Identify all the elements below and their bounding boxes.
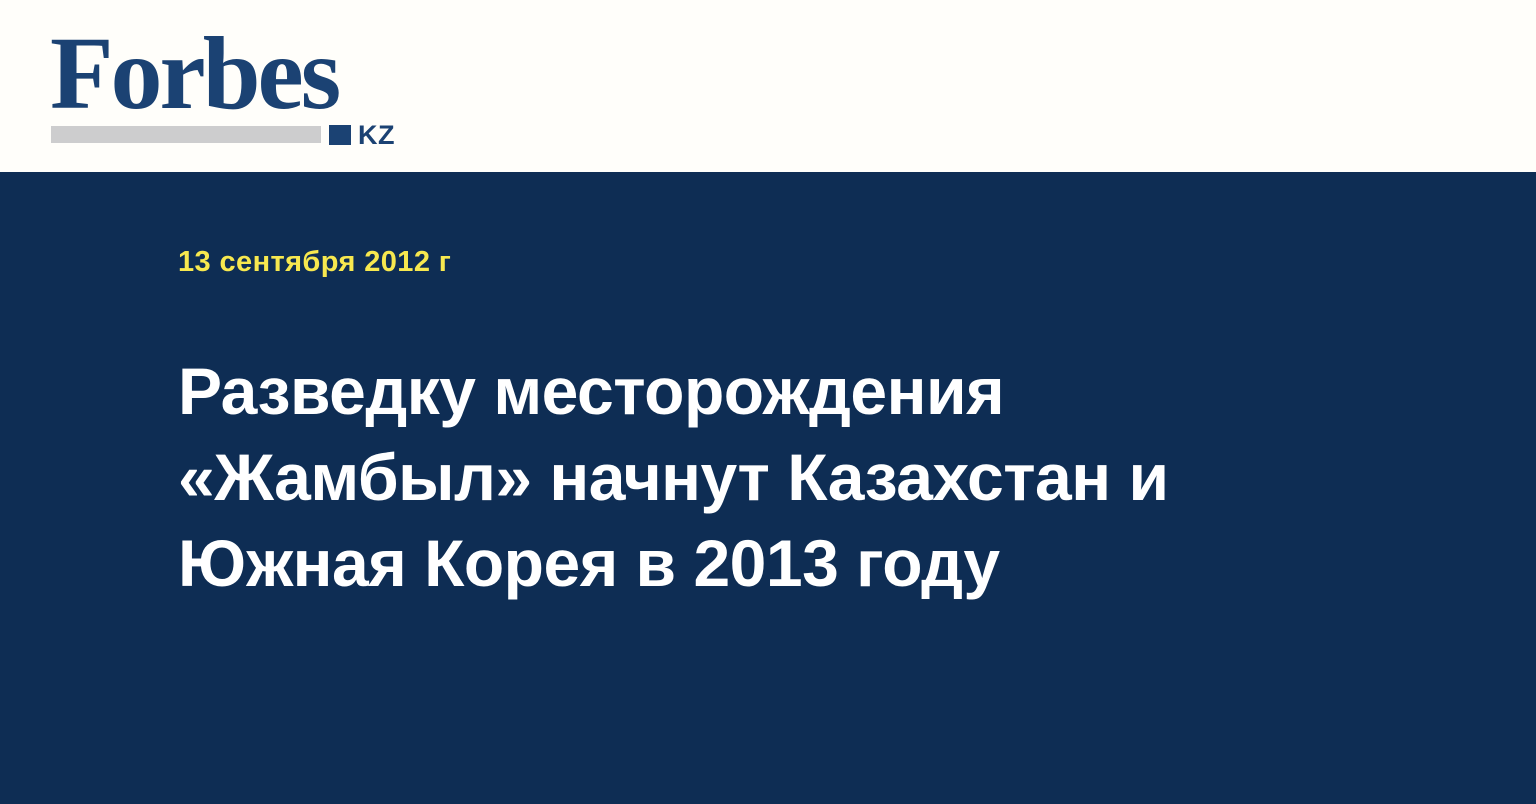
logo-underline-bar [51,126,321,143]
article-header-page: Forbes KZ 13 сентября 2012 г Разведку ме… [0,0,1536,804]
forbes-wordmark: Forbes [50,22,338,126]
article-headline: Разведку месторождения «Жамбыл» начнут К… [178,348,1318,606]
logo-square-icon [329,125,351,145]
forbes-kz-logo[interactable]: Forbes KZ [50,22,410,150]
logo-kz-suffix: KZ [358,122,395,149]
site-masthead: Forbes KZ [0,0,1536,172]
article-hero-band: 13 сентября 2012 г Разведку месторождени… [0,172,1536,804]
headline-line: «Жамбыл» начнут Казахстан и [178,434,1318,520]
headline-line: Южная Корея в 2013 году [178,520,1318,606]
article-publish-date: 13 сентября 2012 г [178,246,451,278]
headline-line: Разведку месторождения [178,348,1318,434]
